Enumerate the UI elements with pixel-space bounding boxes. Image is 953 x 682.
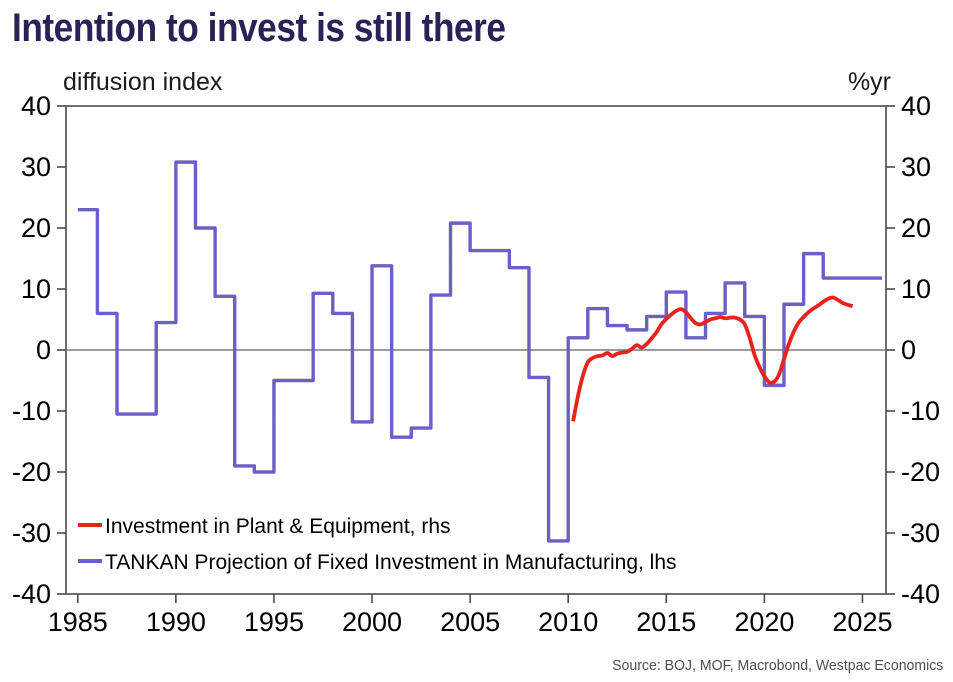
left-axis-unit-label: diffusion index (63, 68, 222, 97)
y-axis-left-tick-label: 10 (21, 274, 51, 304)
y-axis-right-tick-label: 10 (901, 274, 931, 304)
y-axis-left-tick-label: 20 (21, 213, 51, 243)
line-chart: 198519901995200020052010201520202025 -40… (0, 0, 953, 682)
y-axis-right-tick-label: -20 (901, 457, 940, 487)
x-axis-tick-label: 2005 (440, 607, 500, 637)
x-axis-tick-label: 1995 (244, 607, 304, 637)
y-axis-left-tick-label: -40 (12, 579, 51, 609)
right-axis-unit-label: %yr (848, 68, 891, 97)
legend-label-1: Investment in Plant & Equipment, rhs (105, 515, 451, 538)
x-axis-tick-label: 2000 (342, 607, 402, 637)
y-axis-left-ticks: -40-30-20-10010203040 (12, 91, 66, 609)
x-axis-tick-label: 2020 (734, 607, 794, 637)
y-axis-right-ticks: -40-30-20-10010203040 (886, 91, 940, 609)
y-axis-right-tick-label: -10 (901, 396, 940, 426)
page-title: Intention to invest is still there (12, 6, 506, 51)
y-axis-right-tick-label: 40 (901, 91, 931, 121)
source-note: Source: BOJ, MOF, Macrobond, Westpac Eco… (612, 657, 943, 674)
y-axis-right-tick-label: -30 (901, 518, 940, 548)
chart-container: Intention to invest is still there diffu… (0, 0, 953, 682)
y-axis-left-tick-label: 0 (36, 335, 51, 365)
y-axis-right-tick-label: -40 (901, 579, 940, 609)
series-line-investment-plant-equipment (573, 298, 853, 422)
legend-label-2: TANKAN Projection of Fixed Investment in… (105, 551, 677, 574)
data-series-group (78, 162, 882, 541)
y-axis-left-tick-label: 40 (21, 91, 51, 121)
y-axis-right-tick-label: 20 (901, 213, 931, 243)
y-axis-right-tick-label: 0 (901, 335, 916, 365)
x-axis-ticks: 198519901995200020052010201520202025 (48, 594, 893, 637)
y-axis-left-tick-label: -10 (12, 396, 51, 426)
y-axis-left-tick-label: 30 (21, 152, 51, 182)
chart-legend: Investment in Plant & Equipment, rhsTANK… (78, 515, 677, 574)
series-line-tankan-projection (78, 162, 882, 541)
x-axis-tick-label: 2015 (636, 607, 696, 637)
x-axis-tick-label: 2010 (538, 607, 598, 637)
x-axis-tick-label: 1985 (48, 607, 108, 637)
x-axis-tick-label: 1990 (146, 607, 206, 637)
y-axis-left-tick-label: -30 (12, 518, 51, 548)
y-axis-right-tick-label: 30 (901, 152, 931, 182)
y-axis-left-tick-label: -20 (12, 457, 51, 487)
x-axis-tick-label: 2025 (832, 607, 892, 637)
